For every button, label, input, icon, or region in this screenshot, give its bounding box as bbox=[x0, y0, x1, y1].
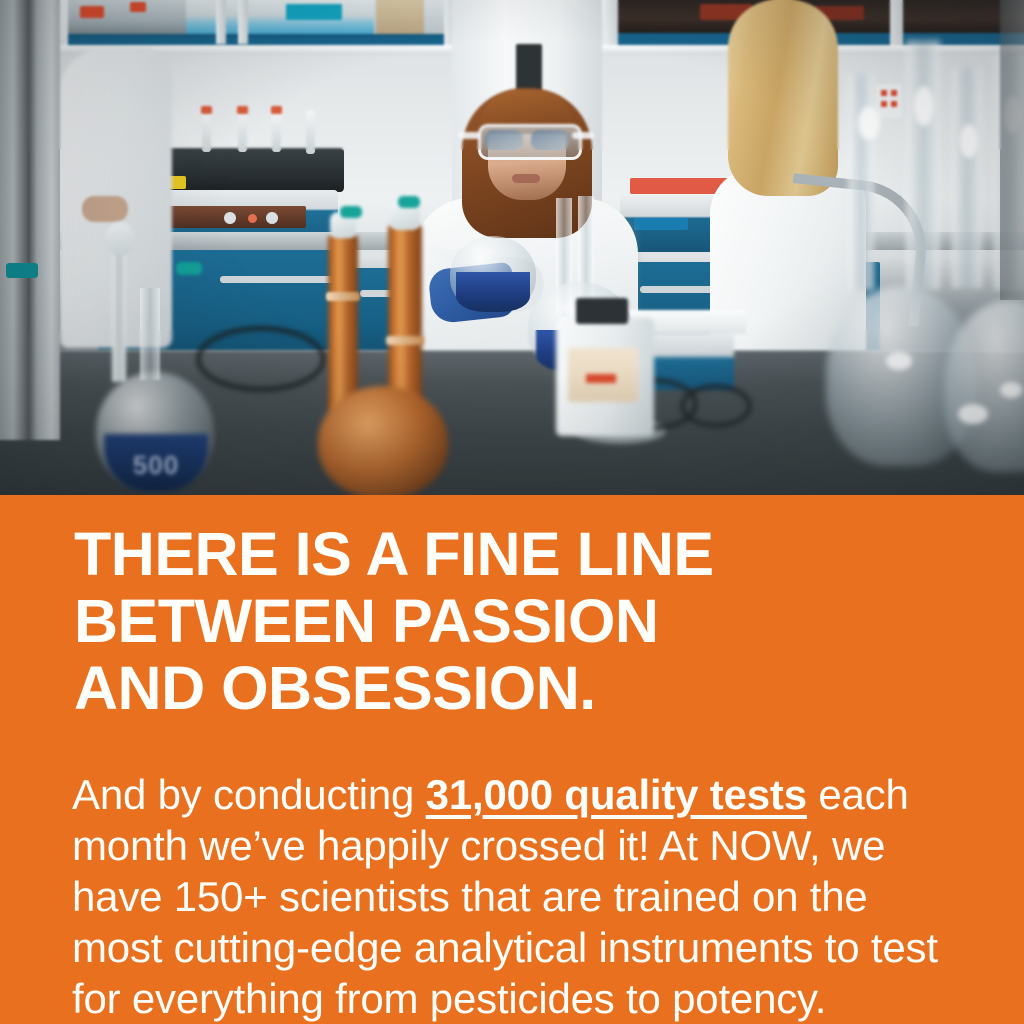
test-tube-cap-2 bbox=[201, 106, 212, 114]
test-tube-5 bbox=[306, 110, 315, 154]
left-structural-post bbox=[0, 0, 60, 440]
blue-liquid-held bbox=[456, 272, 530, 312]
cabinet-box-cardboard bbox=[376, 0, 424, 37]
pipette-teal-band-2 bbox=[176, 262, 202, 275]
glass-highlight-3 bbox=[960, 124, 978, 158]
amber-flask-neck-1 bbox=[328, 236, 358, 412]
goggle-lens-left bbox=[485, 130, 523, 150]
instrument-indicator bbox=[248, 214, 257, 223]
social-graphic-canvas: 500 THERE IS A FINE LINE BETW bbox=[0, 0, 1024, 1024]
flask-volume-label: 500 bbox=[120, 450, 192, 480]
laboratory-photo: 500 bbox=[0, 0, 1024, 495]
scientist-mouth bbox=[512, 174, 540, 183]
headline-line-3: AND OBSESSION. bbox=[74, 655, 974, 722]
amber-teal-cap-2 bbox=[398, 196, 420, 208]
glass-highlight-2 bbox=[914, 86, 934, 126]
test-tube-2 bbox=[202, 112, 211, 152]
safety-goggles bbox=[478, 124, 582, 160]
quality-tests-emphasis: 31,000 quality tests bbox=[426, 771, 807, 818]
test-tube-cap-4 bbox=[271, 106, 282, 114]
goggle-strap-right bbox=[572, 132, 594, 139]
glass-highlight-6 bbox=[958, 404, 988, 424]
cabinet-teal-box bbox=[286, 4, 342, 20]
amber-graduation-ring-2 bbox=[386, 336, 424, 345]
volumetric-flask-stem-1 bbox=[906, 40, 940, 290]
cabinet-tube-1 bbox=[216, 0, 226, 44]
body-segment-1: And by conducting bbox=[72, 771, 426, 818]
headline-line-1: THERE IS A FINE LINE bbox=[74, 521, 974, 588]
orange-message-panel: THERE IS A FINE LINE BETWEEN PASSION AND… bbox=[0, 495, 1024, 1024]
test-tube-cap-3 bbox=[237, 106, 248, 114]
goggle-strap-left bbox=[458, 132, 480, 139]
cabinet-stile-2 bbox=[605, 0, 618, 46]
equipment-cable-3 bbox=[196, 326, 326, 392]
cabinet-stile-3 bbox=[890, 0, 903, 46]
cabinet-tube-2 bbox=[238, 0, 248, 44]
right-worker-blonde-hair bbox=[728, 0, 838, 196]
base-cabinet-handle-1 bbox=[220, 276, 336, 283]
goggle-lens-right bbox=[531, 130, 569, 150]
volumetric-flask-stem-2 bbox=[952, 68, 982, 288]
pipette-bulb-2 bbox=[106, 222, 134, 256]
reagent-bottle-label-warning bbox=[586, 374, 616, 383]
headline-line-2: BETWEEN PASSION bbox=[74, 588, 974, 655]
test-tube-3 bbox=[238, 112, 247, 152]
glass-highlight-1 bbox=[858, 106, 880, 140]
right-structural-post bbox=[1000, 0, 1024, 300]
flask-500-neck bbox=[140, 288, 160, 380]
amber-graduation-ring-1 bbox=[326, 292, 360, 301]
post-teal-marker bbox=[6, 263, 38, 278]
amber-flask-bulb bbox=[318, 386, 448, 495]
left-worker-hand bbox=[82, 196, 128, 222]
reagent-bottle-cap bbox=[576, 298, 628, 324]
switch-dot-2 bbox=[891, 90, 897, 96]
instrument-knob-2 bbox=[266, 212, 278, 224]
cabinet-glass-2 bbox=[186, 0, 374, 37]
amber-teal-cap-1 bbox=[340, 206, 362, 218]
cabinet-red-box-1 bbox=[80, 6, 104, 18]
headline: THERE IS A FINE LINE BETWEEN PASSION AND… bbox=[74, 521, 974, 722]
switch-dot-4 bbox=[891, 101, 897, 107]
glass-highlight-5 bbox=[886, 352, 912, 370]
switch-dot-1 bbox=[881, 90, 887, 96]
switch-dot-3 bbox=[881, 101, 887, 107]
glass-highlight-7 bbox=[1000, 382, 1022, 398]
amber-flask-neck-2 bbox=[388, 226, 422, 412]
test-tube-4 bbox=[272, 112, 281, 152]
equipment-cable-2 bbox=[680, 384, 752, 428]
instrument-knob-1 bbox=[224, 212, 236, 224]
body-paragraph: And by conducting 31,000 quality tests e… bbox=[72, 769, 952, 1024]
cabinet-red-box-2 bbox=[130, 2, 146, 12]
